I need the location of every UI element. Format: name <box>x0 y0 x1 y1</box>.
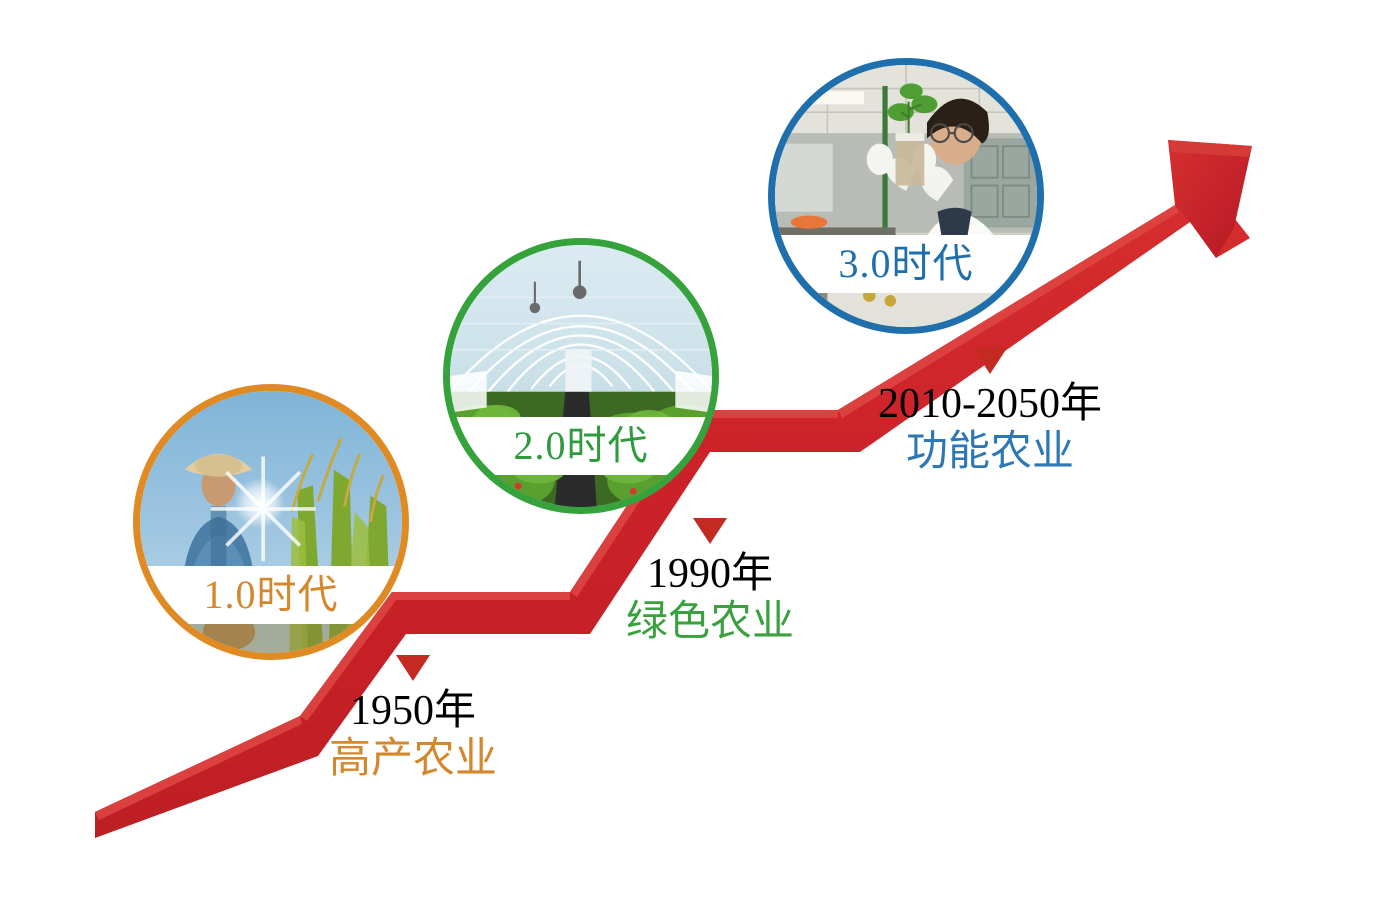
stage-subtitle-3: 功能农业 <box>840 428 1140 476</box>
stage-circle-2[interactable]: 2.0时代 <box>443 238 719 514</box>
stage-year-2: 1990年 <box>560 550 860 598</box>
stage-circle-1[interactable]: 1.0时代 <box>133 384 409 660</box>
stage-year-3: 2010-2050年 <box>840 380 1140 428</box>
stage-subtitle-1: 高产农业 <box>263 735 563 783</box>
stage-badge-band-3: 3.0时代 <box>775 235 1037 293</box>
stage-badge-label-2: 2.0时代 <box>514 426 649 466</box>
stage-badge-label-3: 3.0时代 <box>839 244 974 284</box>
triangle-marker-icon-2 <box>693 518 727 544</box>
stage-year-1: 1950年 <box>263 687 563 735</box>
stage-caption-2: 1990年 绿色农业 <box>560 518 860 647</box>
stage-badge-band-2: 2.0时代 <box>450 417 712 475</box>
stage-badge-band-1: 1.0时代 <box>140 566 402 624</box>
stage-caption-3: 2010-2050年 功能农业 <box>840 348 1140 477</box>
stage-subtitle-2: 绿色农业 <box>560 598 860 646</box>
triangle-marker-icon-3 <box>973 348 1007 374</box>
stage-circle-3[interactable]: 3.0时代 <box>768 58 1044 334</box>
stage-caption-1: 1950年 高产农业 <box>263 655 563 784</box>
triangle-marker-icon-1 <box>396 655 430 681</box>
stage-badge-label-1: 1.0时代 <box>204 575 339 615</box>
infographic-canvas: 1.0时代 <box>0 0 1384 897</box>
